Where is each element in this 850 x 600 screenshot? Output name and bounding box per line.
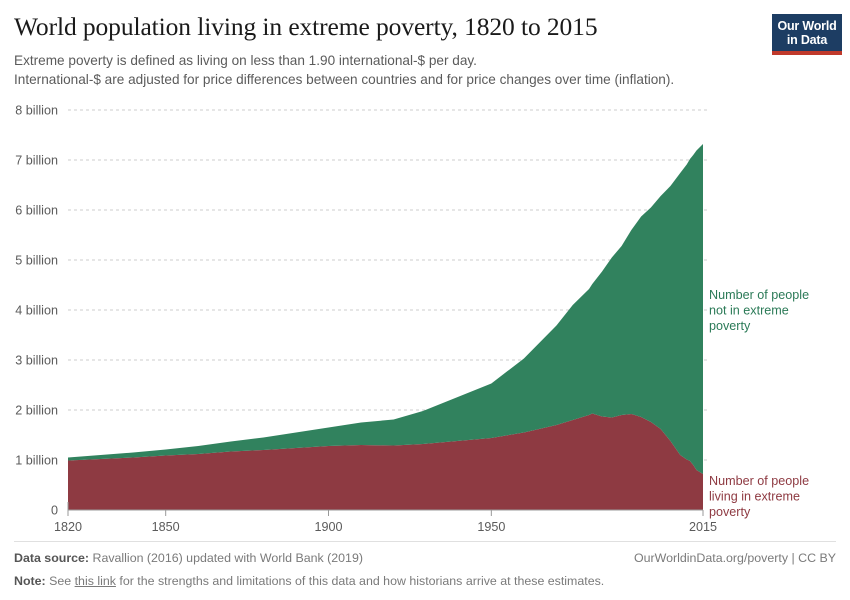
y-axis-tick-label: 3 billion — [15, 354, 58, 368]
series-label-in-poverty: poverty — [709, 505, 751, 519]
y-axis-tick-label: 5 billion — [15, 254, 58, 268]
x-axis-tick-label: 1820 — [54, 520, 82, 534]
area-series-group[interactable] — [68, 144, 703, 510]
chart-footer: Data source: Ravallion (2016) updated wi… — [14, 541, 836, 590]
note-prefix: See — [46, 574, 75, 588]
series-label-in-poverty: living in extreme — [709, 490, 800, 504]
attribution-text[interactable]: OurWorldinData.org/poverty | CC BY — [634, 549, 836, 567]
x-axis-tick-label: 2015 — [689, 520, 717, 534]
series-label-not-in-poverty: poverty — [709, 319, 751, 333]
owid-logo[interactable]: Our World in Data — [772, 14, 842, 55]
series-label-not-in-poverty: not in extreme — [709, 304, 789, 318]
note-link[interactable]: this link — [75, 574, 116, 588]
owid-logo-line-1: Our World — [772, 19, 842, 33]
chart-subtitle: Extreme poverty is defined as living on … — [14, 51, 754, 89]
y-axis-tick-label: 2 billion — [15, 404, 58, 418]
series-inline-labels: Number of peoplenot in extremepovertyNum… — [709, 288, 809, 519]
note-label: Note: — [14, 574, 46, 588]
x-axis-tick-label: 1850 — [152, 520, 180, 534]
subtitle-line-1: Extreme poverty is defined as living on … — [14, 51, 754, 70]
data-source-line: Data source: Ravallion (2016) updated wi… — [14, 549, 363, 567]
y-axis-tick-label: 0 — [51, 504, 58, 518]
chart-area: 01 billion2 billion3 billion4 billion5 b… — [0, 95, 850, 535]
note-line: Note: See this link for the strengths an… — [14, 572, 836, 590]
series-label-not-in-poverty: Number of people — [709, 288, 809, 302]
y-axis-tick-label: 8 billion — [15, 104, 58, 118]
x-axis-tick-label: 1950 — [477, 520, 505, 534]
y-axis-tick-label: 6 billion — [15, 204, 58, 218]
x-axis-tick-labels: 18201850190019502015 — [54, 520, 717, 534]
note-suffix: for the strengths and limitations of thi… — [116, 574, 604, 588]
y-axis-tick-label: 7 billion — [15, 154, 58, 168]
chart-header: World population living in extreme pover… — [14, 12, 754, 89]
x-axis-tick-label: 1900 — [314, 520, 342, 534]
page-title: World population living in extreme pover… — [14, 12, 754, 42]
y-axis-tick-label: 4 billion — [15, 304, 58, 318]
y-axis-tick-labels: 01 billion2 billion3 billion4 billion5 b… — [15, 104, 58, 518]
y-axis-tick-label: 1 billion — [15, 454, 58, 468]
data-source-text: Ravallion (2016) updated with World Bank… — [89, 551, 363, 565]
stacked-area-chart[interactable]: 01 billion2 billion3 billion4 billion5 b… — [0, 95, 850, 535]
subtitle-line-2: International-$ are adjusted for price d… — [14, 70, 754, 89]
owid-logo-line-2: in Data — [772, 33, 842, 47]
data-source-label: Data source: — [14, 551, 89, 565]
series-label-in-poverty: Number of people — [709, 474, 809, 488]
